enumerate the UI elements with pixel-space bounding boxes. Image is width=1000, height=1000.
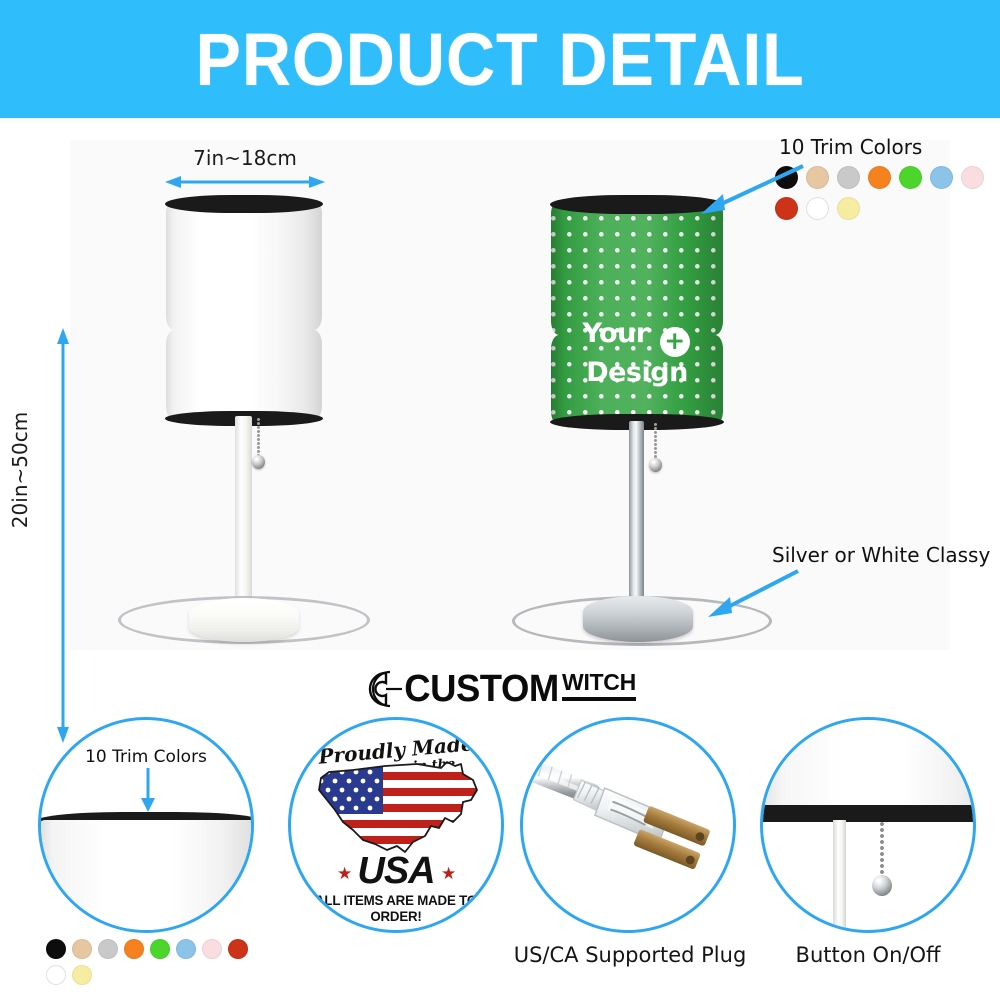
product-stage: 7in~18cm 20in~50cm [0, 118, 1000, 663]
trim-swatch-light-blue[interactable] [176, 939, 196, 959]
logo-sub-text: WITCH [562, 669, 636, 701]
your-design-text: Your + Design [551, 318, 723, 388]
white-shade-surface-lower [166, 330, 322, 420]
feature-panels: 10 Trim Colors Proudly Made in the [0, 715, 1000, 1000]
trim-swatch-tan[interactable] [72, 939, 92, 959]
trim-colors-panel-arrow-icon [136, 768, 160, 812]
white-lamp-shade-lower [166, 330, 322, 420]
trim-swatch-red[interactable] [228, 939, 248, 959]
white-lamp-pole [235, 416, 252, 616]
button-panel[interactable]: Button On/Off [760, 715, 980, 1000]
green-shade-surface [551, 200, 723, 335]
white-lamp-shade [166, 200, 322, 330]
trim-swatch-pink[interactable] [202, 939, 222, 959]
trim-swatch-yellow[interactable] [72, 965, 92, 985]
green-lamp-pull-chain[interactable] [654, 423, 657, 463]
trim-callout-arrow-icon [695, 158, 815, 218]
trim-colors-panel-swatch-row[interactable] [46, 939, 256, 985]
design-line-2: Design [586, 357, 688, 388]
base-finish-arrow-icon [700, 563, 810, 623]
white-lamp-pull-ball-icon[interactable] [252, 455, 265, 469]
trim-swatch-light-blue[interactable] [930, 166, 953, 189]
usa-map-flag-icon [313, 756, 485, 864]
trim-swatch-orange[interactable] [124, 939, 144, 959]
power-plug-icon [523, 720, 733, 930]
button-panel-caption: Button On/Off [760, 943, 976, 967]
trim-swatch-yellow[interactable] [837, 197, 860, 220]
design-line-1: Your [582, 318, 648, 349]
trim-swatch-green[interactable] [899, 166, 922, 189]
trim-colors-panel-label: 10 Trim Colors [41, 747, 251, 767]
trim-swatch-gray[interactable] [837, 166, 860, 189]
logo-main-text: CUSTOM [404, 668, 559, 711]
trim-swatch-gray[interactable] [98, 939, 118, 959]
plug-panel-circle [520, 717, 736, 933]
green-lamp-base [583, 596, 693, 642]
button-panel-trim [760, 805, 976, 822]
trim-swatch-green[interactable] [150, 939, 170, 959]
green-lamp-shade [551, 200, 723, 335]
plus-icon: + [660, 327, 690, 357]
button-panel-pull-ball-icon[interactable] [872, 875, 892, 896]
green-lamp-pull-ball-icon[interactable] [649, 458, 662, 472]
white-lamp-base [189, 598, 299, 642]
panel-shade-surface [38, 820, 254, 933]
button-panel-shade [760, 717, 976, 808]
usa-star-right-icon: ★ [441, 864, 456, 884]
plug-panel-caption: US/CA Supported Plug [506, 943, 754, 967]
white-lamp-pull-chain[interactable] [257, 418, 260, 460]
made-in-usa-panel[interactable]: Proudly Made in the [288, 715, 504, 1000]
trim-colors-panel-circle: 10 Trim Colors [38, 717, 254, 933]
white-lamp[interactable] [0, 118, 420, 663]
trim-swatch-pink[interactable] [961, 166, 984, 189]
trim-swatch-black[interactable] [46, 939, 66, 959]
brand-logo: CUSTOM WITCH [0, 663, 1000, 715]
green-lamp-pole [629, 421, 644, 616]
usa-sub-text: ALL ITEMS ARE MADE TO ORDER! [296, 892, 496, 924]
white-shade-surface [166, 200, 322, 330]
plug-panel[interactable]: US/CA Supported Plug [520, 715, 740, 1000]
page-header-banner: PRODUCT DETAIL [0, 0, 1000, 118]
made-in-usa-circle: Proudly Made in the [288, 717, 504, 933]
logo-c-icon [364, 669, 404, 709]
usa-big-text: USA [291, 850, 501, 893]
page-title: PRODUCT DETAIL [195, 17, 804, 102]
button-panel-pull-chain[interactable] [880, 822, 884, 880]
trim-colors-panel[interactable]: 10 Trim Colors [38, 715, 258, 1000]
button-panel-pole [833, 820, 846, 933]
white-shade-top-trim [165, 195, 323, 213]
button-panel-circle [760, 717, 976, 933]
green-lamp-design-area: Your + Design [551, 318, 723, 378]
trim-swatch-orange[interactable] [868, 166, 891, 189]
trim-colors-title: 10 Trim Colors [779, 135, 922, 159]
trim-swatch-white[interactable] [46, 965, 66, 985]
